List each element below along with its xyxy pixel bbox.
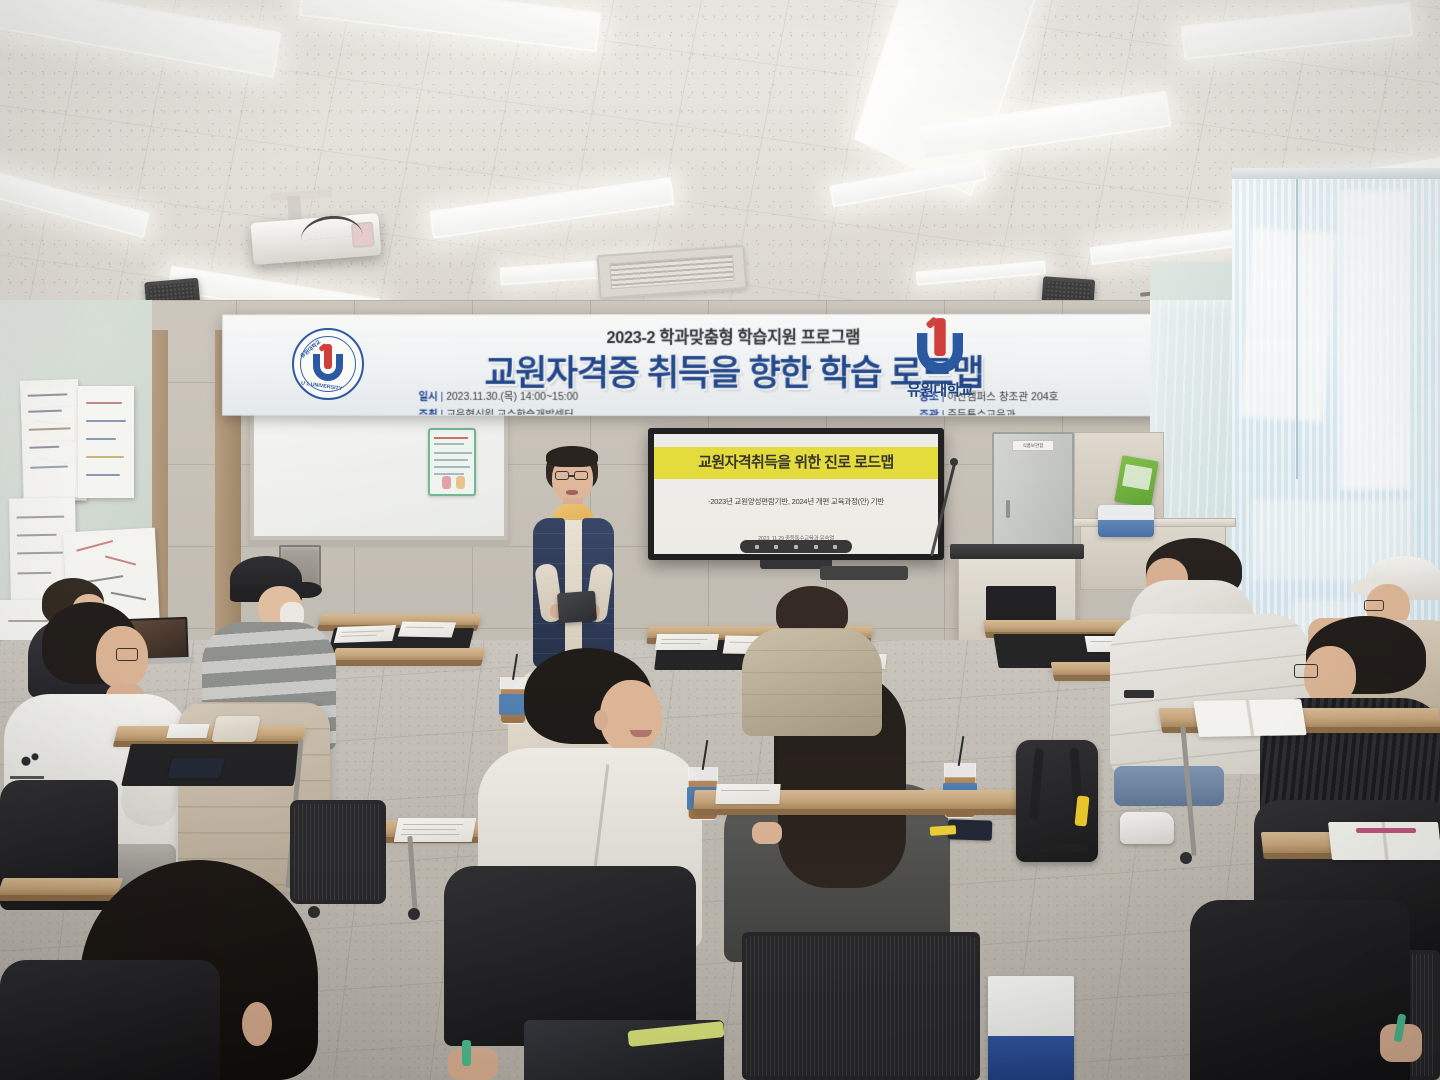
- window-glare: [1239, 227, 1336, 422]
- info-value: 중등특수교육과: [947, 409, 1015, 416]
- info-label: 일시: [419, 391, 438, 403]
- papers-on-desk: [394, 818, 477, 842]
- student-hand: [752, 822, 782, 844]
- student-glasses: [1294, 664, 1318, 678]
- classroom-photo: 2023-2 학과맞춤형 학습지원 프로그램 교원자격증 취득을 향한 학습 로…: [0, 0, 1440, 1080]
- student-ear: [594, 710, 608, 730]
- info-sep: |: [441, 391, 444, 403]
- chair-mesh-back: [746, 936, 976, 1076]
- student-ear: [242, 1002, 272, 1046]
- university-logo-right: 유원대학교: [892, 326, 988, 404]
- toolbar-slide-icon[interactable]: [794, 545, 798, 549]
- instructor-glasses: [555, 471, 569, 480]
- poster-illustration: [442, 476, 451, 489]
- glasses-bridge: [569, 475, 574, 477]
- wall-poster: [20, 379, 82, 499]
- presentation-slide: 교원자격취득을 위한 진로 로드맵 -2023년 교원양성편람기반, 2024년…: [654, 434, 938, 554]
- lectern-top-panel: [950, 544, 1084, 559]
- event-banner: 2023-2 학과맞춤형 학습지원 프로그램 교원자격증 취득을 향한 학습 로…: [222, 314, 1252, 417]
- seal-inner-ring: 유원대학교 U 1 UNIVERSITY: [300, 336, 356, 392]
- info-value: 2023.11.30.(목) 14:00~15:00: [446, 391, 578, 403]
- display-stand-shelf: [820, 566, 908, 580]
- papers-on-desk: [398, 622, 456, 638]
- safety-notice-poster: [428, 428, 476, 496]
- instructor-glasses: [574, 471, 588, 480]
- toolbar-close-icon[interactable]: [814, 545, 818, 549]
- poster-illustration: [456, 476, 465, 489]
- instructor: [516, 446, 628, 676]
- pencil-case: [211, 716, 261, 742]
- presentation-display: 교원자격취득을 위한 진로 로드맵 -2023년 교원양성편람기반, 2024년…: [648, 428, 944, 560]
- desk-row-mid-left: [332, 648, 485, 661]
- chair-center[interactable]: [742, 932, 980, 1080]
- dark-jacket-foreground: [0, 960, 220, 1080]
- slide-title: 교원자격취득을 위한 진로 로드맵: [654, 451, 938, 472]
- blind-pull-cord[interactable]: [1296, 179, 1298, 479]
- university-name-label: 유원대학교: [907, 379, 973, 400]
- vent-grill: [609, 255, 735, 290]
- instructor-hair-fringe: [546, 446, 598, 467]
- jacket-quilt-lines: [742, 628, 882, 736]
- desk-caster: [408, 908, 420, 920]
- banner-info-row: 일시 | 2023.11.30.(목) 14:00~15:00: [419, 389, 579, 404]
- powerpoint-toolbar[interactable]: [740, 540, 852, 553]
- toolbar-more-icon[interactable]: [833, 545, 837, 549]
- smartphone[interactable]: [168, 758, 225, 779]
- black-jacket-draped: [444, 866, 696, 1046]
- open-textbook: [1193, 699, 1306, 737]
- microphone-head: [950, 458, 958, 466]
- refrigerator-sign: 식품보관함: [1012, 440, 1054, 451]
- student-glasses: [1364, 600, 1384, 611]
- banner-info-row: 주관 | 중등특수교육과: [919, 407, 1058, 416]
- desk-front-left: [114, 726, 306, 742]
- sneaker: [1120, 812, 1174, 844]
- blind-rail: [1232, 168, 1440, 179]
- seal-english-text: U 1 UNIVERSITY: [301, 380, 343, 392]
- info-label: 주관: [919, 409, 938, 416]
- info-label: 주최: [419, 409, 438, 417]
- papers-on-desk: [715, 784, 780, 804]
- info-value: 교육혁신원 교수학습개발센터: [446, 409, 574, 417]
- info-sep: |: [441, 409, 444, 417]
- tablet-device[interactable]: [557, 591, 597, 624]
- window-glare: [1340, 190, 1410, 490]
- blue-storage-box: [1098, 505, 1154, 537]
- banner-info-col-left: 일시 | 2023.11.30.(목) 14:00~15:00 주최 | 교육혁…: [419, 389, 579, 417]
- desk-caster: [1180, 852, 1192, 864]
- university-seal-logo: 유원대학교 U 1 UNIVERSITY: [292, 328, 364, 400]
- papers-on-desk: [166, 724, 209, 738]
- student-front-right: [1190, 900, 1410, 1080]
- seal-text-ring: 유원대학교 U 1 UNIVERSITY: [301, 337, 355, 391]
- seal-korean-text: 유원대학교: [298, 338, 322, 360]
- wall-poster: [78, 386, 134, 498]
- u1-logo-icon: [917, 323, 963, 374]
- shopping-bag: [988, 976, 1074, 1080]
- textbook-colored-tabs: [1356, 828, 1417, 833]
- info-sep: |: [942, 409, 945, 416]
- backpack-bottom-strap: [1036, 844, 1088, 852]
- foreground-hand-left: [448, 1048, 498, 1080]
- pen-foreground[interactable]: [462, 1040, 471, 1066]
- slide-subtitle: -2023년 교원양성편람기반, 2024년 개편 교육과정(안) 기반: [654, 496, 938, 507]
- highlighter-pen: [930, 825, 957, 836]
- student-back-khaki: [740, 586, 884, 736]
- puffer-label-tag: [1124, 690, 1154, 698]
- toolbar-menu-icon[interactable]: [755, 545, 759, 549]
- instructor-mouth: [566, 490, 578, 495]
- tshirt-graphic-wave: [14, 748, 44, 770]
- student-glasses: [116, 648, 138, 661]
- student-smile: [630, 730, 652, 737]
- student-head: [600, 680, 662, 752]
- refrigerator-handle[interactable]: [1006, 500, 1010, 518]
- toolbar-pen-icon[interactable]: [774, 545, 778, 549]
- student-jeans: [1114, 766, 1224, 806]
- logo-one-shape: [934, 318, 946, 356]
- banner-info-row: 주최 | 교육혁신원 교수학습개발센터: [419, 407, 579, 417]
- shopping-bag-band: [988, 1036, 1074, 1080]
